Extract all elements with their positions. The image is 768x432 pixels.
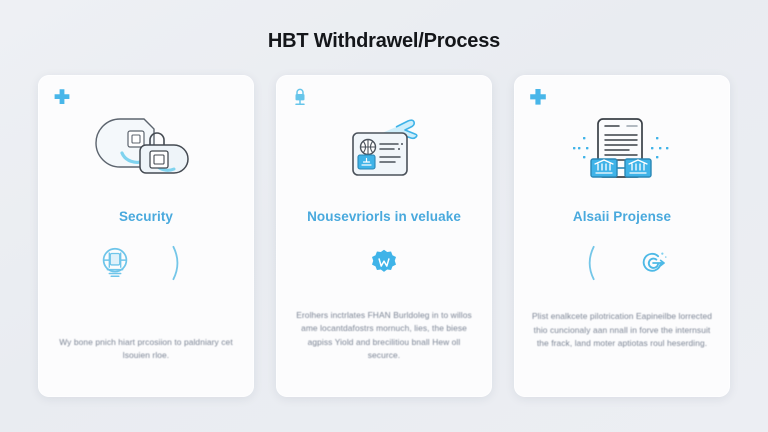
plus-icon <box>528 87 548 107</box>
feature-card-alsaii-projense[interactable]: Alsaii Projense Plist enalkcete pilotric… <box>514 75 730 397</box>
card-body-text: Plist enalkcete pilotrication Eapineilbe… <box>514 310 730 351</box>
page-title: HBT Withdrawel/Process <box>0 0 768 53</box>
plus-icon <box>52 87 72 107</box>
card-mid-icon-row <box>38 240 254 286</box>
bank-globe-icon <box>95 243 135 283</box>
documents-lock-illustration <box>94 109 198 193</box>
card-body-text: Wy bone pnich hiart prcosiion to paldnia… <box>38 336 254 363</box>
card-heading: Alsaii Projense <box>514 209 730 224</box>
w-badge-icon <box>364 243 404 283</box>
lock-monitor-icon <box>290 87 310 107</box>
passport-airplane-illustration <box>332 109 436 193</box>
card-mid-icon-row <box>276 240 492 286</box>
card-body-text: Erolhers inctrlates FHAN Burldoleg in to… <box>276 309 492 363</box>
feature-card-grid: Security Wy bone pnich hiart prcosiion t… <box>0 75 768 397</box>
parenthesis-left-glyph <box>571 243 611 283</box>
card-mid-icon-row <box>514 240 730 286</box>
card-heading: Nousevriorls in veluake <box>276 209 492 224</box>
feature-card-nousevriorls[interactable]: Nousevriorls in veluake Erolhers inctrla… <box>276 75 492 397</box>
target-dart-icon <box>633 243 673 283</box>
card-heading: Security <box>38 209 254 224</box>
feature-card-security[interactable]: Security Wy bone pnich hiart prcosiion t… <box>38 75 254 397</box>
parenthesis-right-glyph <box>157 243 197 283</box>
document-bank-badges-illustration <box>570 109 674 193</box>
